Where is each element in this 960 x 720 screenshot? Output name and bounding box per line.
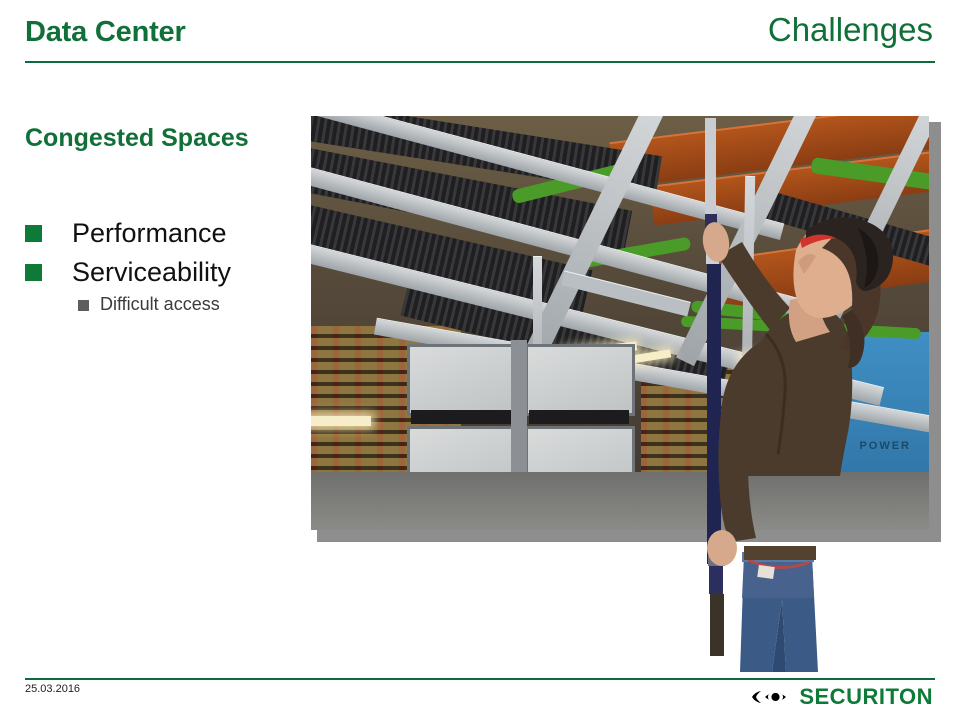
page-subtitle: Challenges xyxy=(768,13,933,46)
sub-list-item: Difficult access xyxy=(78,293,305,316)
panel-gap xyxy=(411,410,511,424)
gray-square-bullet-icon xyxy=(78,300,89,311)
photo-image: POWER xyxy=(311,116,929,530)
footer-divider xyxy=(25,678,935,680)
footer-date: 25.03.2016 xyxy=(25,683,80,695)
sub-list-item-label: Difficult access xyxy=(100,293,220,316)
list-item-label: Serviceability xyxy=(72,255,231,290)
ceiling-lamp xyxy=(311,416,371,426)
jeans xyxy=(740,552,818,672)
floor xyxy=(311,472,929,530)
securiton-logo: SECURITON xyxy=(750,686,933,708)
equipment-panel xyxy=(407,344,517,416)
panel-gap xyxy=(529,410,629,424)
header-divider xyxy=(25,61,935,63)
list-item-label: Performance xyxy=(72,216,227,251)
section-heading: Congested Spaces xyxy=(25,122,290,154)
list-item: Serviceability xyxy=(25,255,305,290)
green-square-bullet-icon xyxy=(25,225,42,242)
bullet-list: Performance Serviceability Difficult acc… xyxy=(25,216,305,316)
equipment-panel xyxy=(525,344,635,416)
page-title: Data Center xyxy=(25,18,186,47)
slide: Data Center Challenges Congested Spaces … xyxy=(0,0,960,720)
securiton-wordmark: SECURITON xyxy=(799,686,933,708)
slide-photo: POWER xyxy=(311,116,935,536)
power-cabinet-label: POWER xyxy=(859,440,911,452)
green-square-bullet-icon xyxy=(25,264,42,281)
list-item: Performance xyxy=(25,216,305,251)
eye-icon xyxy=(750,687,792,707)
